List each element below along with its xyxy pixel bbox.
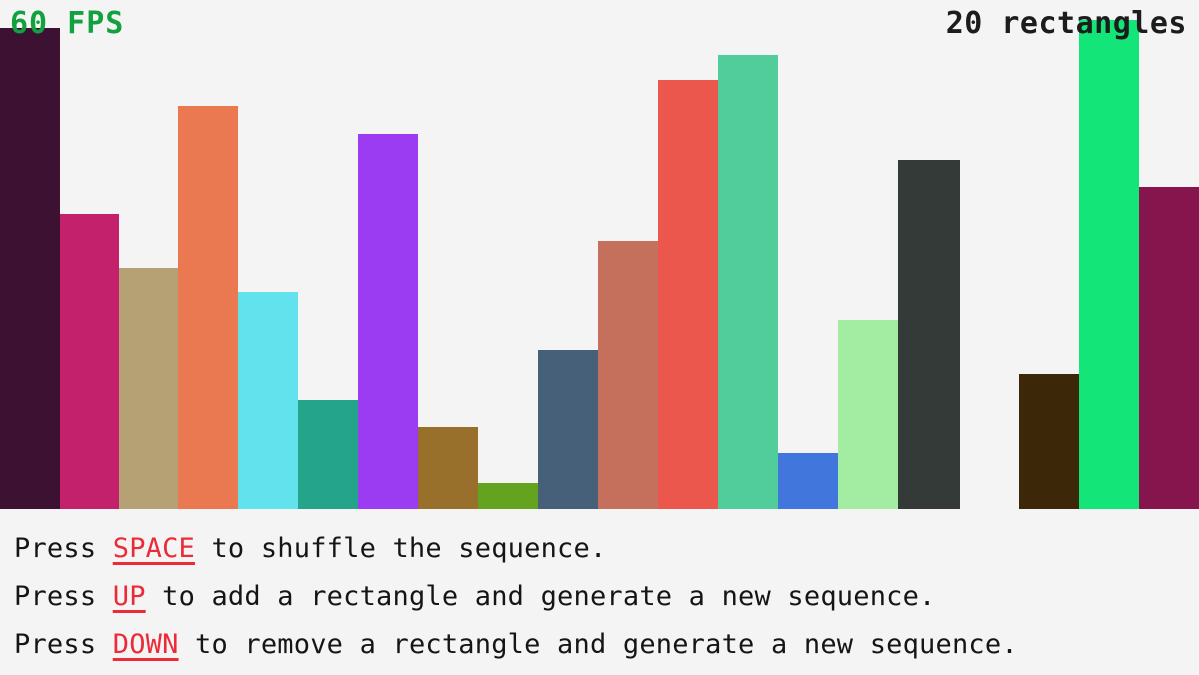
key-space[interactable]: SPACE [113,533,195,564]
instruction-suffix: to add a rectangle and generate a new se… [146,581,936,612]
key-up[interactable]: UP [113,581,146,612]
app-window: 60 FPS 20 rectangles Press SPACE to shuf… [0,0,1199,675]
fps-counter: 60 FPS [10,9,124,39]
instruction-suffix: to shuffle the sequence. [195,533,606,564]
bar-15-green-light [838,320,898,509]
instruction-prefix: Press [14,629,113,660]
bar-6-teal [298,400,358,509]
bar-18-bright-green [1079,20,1139,509]
bar-12-red [658,80,718,509]
instruction-prefix: Press [14,581,113,612]
bar-17-dark-brown [1019,374,1079,509]
rectangle-sequence-chart [0,0,1199,509]
bar-19-dark-maroon [1139,187,1199,509]
bar-8-brown-ochre [418,427,478,509]
instruction-line-1: Press SPACE to shuffle the sequence. [14,525,1199,573]
bar-5-cyan [238,292,298,509]
instructions-panel: Press SPACE to shuffle the sequence.Pres… [0,509,1199,675]
bar-4-orange [178,106,238,509]
bar-13-green-medium [718,55,778,509]
bar-3-khaki [119,268,178,509]
bar-16-charcoal [898,160,960,509]
bar-9-olive-green [478,483,538,509]
bar-14-blue [778,453,838,509]
instruction-line-3: Press DOWN to remove a rectangle and gen… [14,621,1199,669]
rectangle-count-label: 20 rectangles [946,9,1187,39]
bar-7-violet [358,134,418,509]
bar-10-slate-blue [538,350,598,509]
instruction-prefix: Press [14,533,113,564]
bar-1-dark-plum [0,28,60,509]
bar-11-terracotta [598,241,658,509]
key-down[interactable]: DOWN [113,629,179,660]
bar-2-magenta [60,214,119,509]
instruction-suffix: to remove a rectangle and generate a new… [179,629,1018,660]
instruction-line-2: Press UP to add a rectangle and generate… [14,573,1199,621]
